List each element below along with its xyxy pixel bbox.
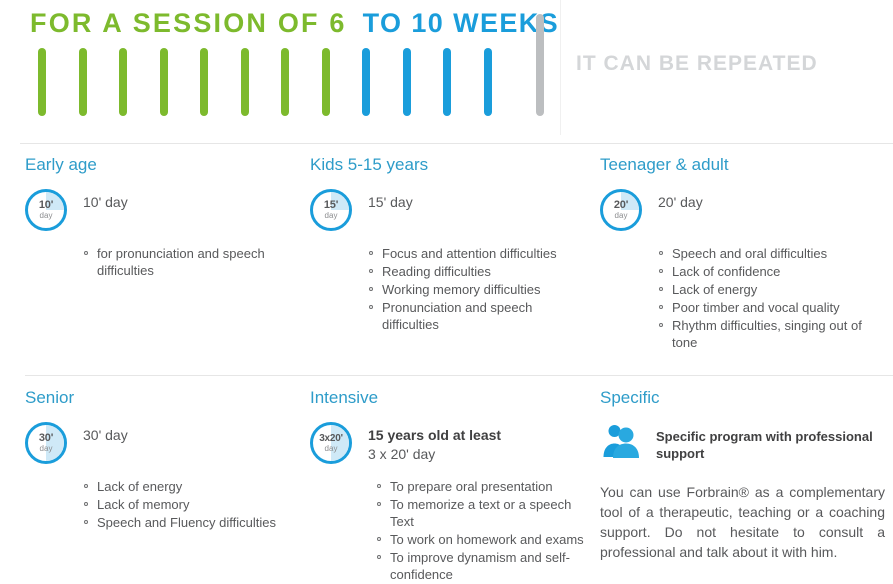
list-item: Rhythm difficulties, singing out of tone	[672, 317, 885, 351]
bullet-dot-icon	[659, 287, 663, 291]
bullet-dot-icon	[377, 484, 381, 488]
week-bar-blue	[484, 48, 492, 116]
list-item-label: Rhythm difficulties, singing out of tone	[672, 318, 862, 350]
badge-duration: 20'	[614, 200, 628, 211]
week-bar-green	[200, 48, 208, 116]
card-head-text: 15' day	[368, 189, 590, 212]
week-bar-green	[241, 48, 249, 116]
card-bullet-list: Speech and oral difficulties Lack of con…	[600, 245, 885, 351]
bullet-dot-icon	[84, 251, 88, 255]
divider-top	[20, 143, 893, 144]
duration-badge-30: 30' day	[25, 422, 67, 464]
card-kids: Kids 5-15 years 15' day 15' day Focus an…	[310, 155, 590, 334]
card-head-line: 20' day	[658, 193, 885, 212]
banner-vertical-divider	[560, 0, 561, 135]
list-item-label: Speech and Fluency difficulties	[97, 515, 276, 530]
card-head: 20' day 20' day	[600, 189, 885, 235]
card-head-text: 10' day	[83, 189, 300, 212]
list-item: for pronunciation and speech difficultie…	[97, 245, 300, 279]
list-item-label: To memorize a text or a speech Text	[390, 497, 571, 529]
bullet-dot-icon	[369, 305, 373, 309]
duration-badge-3x20: 3x20' day	[310, 422, 352, 464]
card-bullet-list: Focus and attention difficulties Reading…	[310, 245, 590, 333]
list-item: Poor timber and vocal quality	[672, 299, 885, 316]
card-title: Teenager & adult	[600, 155, 885, 175]
list-item: To improve dynamism and self-confidence	[390, 549, 590, 583]
card-head-line-bold: 15 years old at least	[368, 426, 590, 445]
list-item-label: Reading difficulties	[382, 264, 491, 279]
list-item-label: To prepare oral presentation	[390, 479, 553, 494]
badge-unit: day	[40, 212, 53, 220]
list-item: Lack of energy	[97, 478, 300, 495]
list-item: To prepare oral presentation	[390, 478, 590, 495]
list-item-label: Pronunciation and speech difficulties	[382, 300, 532, 332]
list-item-label: Poor timber and vocal quality	[672, 300, 840, 315]
badge-duration: 10'	[39, 200, 53, 211]
bullet-dot-icon	[369, 251, 373, 255]
bullet-dot-icon	[659, 251, 663, 255]
card-title: Specific	[600, 388, 885, 408]
list-item-label: Working memory difficulties	[382, 282, 540, 297]
divider-middle	[25, 375, 893, 376]
card-head-line: 10' day	[83, 193, 300, 212]
card-bullet-list: To prepare oral presentation To memorize…	[310, 478, 590, 583]
week-bar-green	[38, 48, 46, 116]
badge-labels: 3x20' day	[313, 425, 349, 461]
week-bar-green	[119, 48, 127, 116]
list-item: Working memory difficulties	[382, 281, 590, 298]
repeat-bar	[536, 14, 544, 116]
card-title: Kids 5-15 years	[310, 155, 590, 175]
list-item: Speech and Fluency difficulties	[97, 514, 300, 531]
card-bullet-list: Lack of energy Lack of memory Speech and…	[25, 478, 300, 531]
duration-badge-20: 20' day	[600, 189, 642, 231]
card-head: 10' day 10' day	[25, 189, 300, 235]
bullet-dot-icon	[84, 520, 88, 524]
list-item: Lack of energy	[672, 281, 885, 298]
week-bar-blue	[443, 48, 451, 116]
header-banner: FOR A SESSION OF 6TO 10 WEEKS IT CAN BE …	[0, 0, 893, 135]
week-bar-blue	[362, 48, 370, 116]
card-early-age: Early age 10' day 10' day for pronunciat…	[25, 155, 300, 280]
card-teenager-adult: Teenager & adult 20' day 20' day Speech …	[600, 155, 885, 352]
week-bar-blue	[403, 48, 411, 116]
badge-unit: day	[40, 445, 53, 453]
week-bar-green	[322, 48, 330, 116]
list-item-label: Lack of energy	[97, 479, 182, 494]
card-head-line: 3 x 20' day	[368, 445, 590, 464]
list-item: Lack of memory	[97, 496, 300, 513]
list-item-label: Speech and oral difficulties	[672, 246, 827, 261]
list-item-label: Focus and attention difficulties	[382, 246, 557, 261]
list-item-label: for pronunciation and speech difficultie…	[97, 246, 265, 278]
duration-badge-10: 10' day	[25, 189, 67, 231]
week-bar-green	[281, 48, 289, 116]
bullet-dot-icon	[369, 269, 373, 273]
card-bullet-list: for pronunciation and speech difficultie…	[25, 245, 300, 279]
banner-title: FOR A SESSION OF 6TO 10 WEEKS	[30, 8, 559, 39]
people-icon	[602, 424, 640, 458]
badge-labels: 15' day	[313, 192, 349, 228]
card-specific: Specific Specific program with professio…	[600, 388, 885, 562]
list-item: Lack of confidence	[672, 263, 885, 280]
week-bar-green	[79, 48, 87, 116]
list-item: Pronunciation and speech difficulties	[382, 299, 590, 333]
card-head-text: 15 years old at least 3 x 20' day	[368, 422, 590, 464]
badge-duration: 30'	[39, 433, 53, 444]
card-head-line: 30' day	[83, 426, 300, 445]
bullet-dot-icon	[659, 269, 663, 273]
card-head-text: 30' day	[83, 422, 300, 445]
bullet-dot-icon	[84, 502, 88, 506]
bullet-dot-icon	[377, 537, 381, 541]
badge-labels: 20' day	[603, 192, 639, 228]
list-item-label: Lack of confidence	[672, 264, 780, 279]
card-head: 3x20' day 15 years old at least 3 x 20' …	[310, 422, 590, 468]
bullet-dot-icon	[377, 555, 381, 559]
duration-badge-15: 15' day	[310, 189, 352, 231]
banner-title-green: FOR A SESSION OF 6	[30, 8, 347, 38]
bullet-dot-icon	[369, 287, 373, 291]
bullet-dot-icon	[377, 502, 381, 506]
badge-unit: day	[615, 212, 628, 220]
card-head: Specific program with professional suppo…	[600, 422, 885, 466]
bullet-dot-icon	[659, 305, 663, 309]
badge-duration: 15'	[324, 200, 338, 211]
list-item-label: To work on homework and exams	[390, 532, 584, 547]
card-head: 30' day 30' day	[25, 422, 300, 468]
card-head: 15' day 15' day	[310, 189, 590, 235]
specific-paragraph: You can use Forbrain® as a complementary…	[600, 482, 885, 562]
list-item-label: Lack of energy	[672, 282, 757, 297]
card-title: Early age	[25, 155, 300, 175]
repeat-label: IT CAN BE REPEATED	[576, 52, 818, 76]
week-bar-green	[160, 48, 168, 116]
card-title: Intensive	[310, 388, 590, 408]
card-head-text: 20' day	[658, 189, 885, 212]
banner-title-blue: TO 10 WEEKS	[363, 8, 559, 38]
list-item: To work on homework and exams	[390, 531, 590, 548]
specific-caption: Specific program with professional suppo…	[656, 422, 885, 462]
list-item-label: Lack of memory	[97, 497, 189, 512]
bullet-dot-icon	[659, 323, 663, 327]
bullet-dot-icon	[84, 484, 88, 488]
badge-unit: day	[325, 212, 338, 220]
badge-labels: 30' day	[28, 425, 64, 461]
card-title: Senior	[25, 388, 300, 408]
badge-duration: 3x20'	[319, 434, 343, 444]
card-senior: Senior 30' day 30' day Lack of energy La…	[25, 388, 300, 532]
list-item: Speech and oral difficulties	[672, 245, 885, 262]
card-head-line: 15' day	[368, 193, 590, 212]
card-intensive: Intensive 3x20' day 15 years old at leas…	[310, 388, 590, 584]
list-item: Reading difficulties	[382, 263, 590, 280]
list-item: To memorize a text or a speech Text	[390, 496, 590, 530]
list-item: Focus and attention difficulties	[382, 245, 590, 262]
badge-labels: 10' day	[28, 192, 64, 228]
list-item-label: To improve dynamism and self-confidence	[390, 550, 570, 582]
badge-unit: day	[325, 445, 338, 453]
